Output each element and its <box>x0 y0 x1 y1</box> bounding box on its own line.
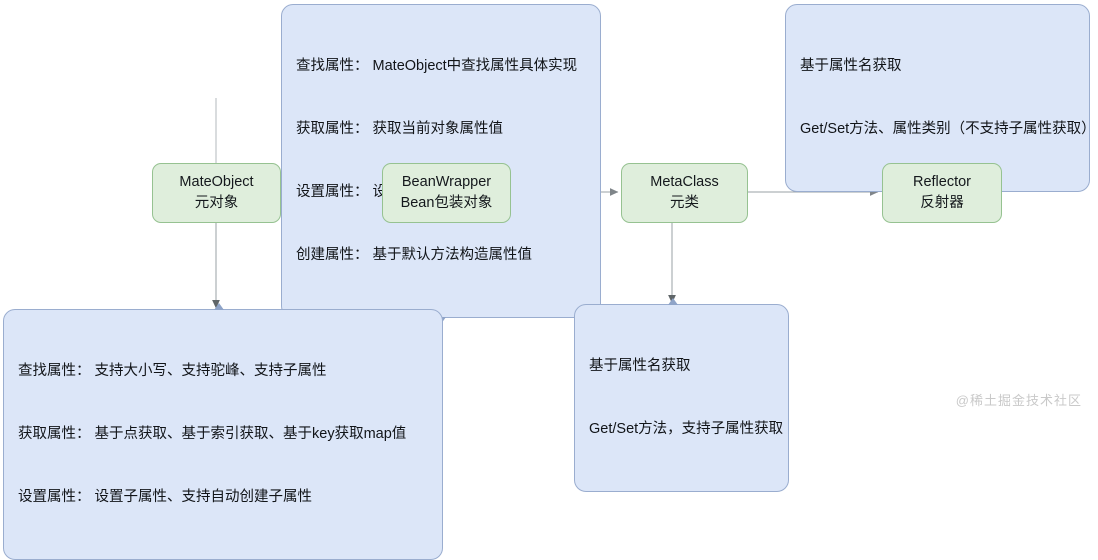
class-name-cn: Bean包装对象 <box>401 193 493 214</box>
annotation-metaclass-detail: 基于属性名获取 Get/Set方法，支持子属性获取 <box>574 304 789 492</box>
annotation-beanwrapper-detail: 查找属性： 支持大小写、支持驼峰、支持子属性 获取属性： 基于点获取、基于索引获… <box>3 309 443 560</box>
annotation-mateobject-detail: 查找属性： MateObject中查找属性具体实现 获取属性： 获取当前对象属性… <box>281 4 601 318</box>
diagram-canvas: 查找属性： MateObject中查找属性具体实现 获取属性： 获取当前对象属性… <box>0 0 1098 421</box>
class-node-metaclass[interactable]: MetaClass 元类 <box>621 163 748 223</box>
class-node-beanwrapper[interactable]: BeanWrapper Bean包装对象 <box>382 163 511 223</box>
class-name-cn: 元类 <box>670 193 699 214</box>
annotation-line: Get/Set方法、属性类别（不支持子属性获取） <box>800 119 1075 140</box>
annotation-line: Get/Set方法，支持子属性获取 <box>589 419 774 440</box>
class-name-en: MateObject <box>179 172 253 193</box>
class-node-mateobject[interactable]: MateObject 元对象 <box>152 163 281 223</box>
class-name-cn: 反射器 <box>920 193 964 214</box>
annotation-line: 查找属性： MateObject中查找属性具体实现 <box>296 56 586 77</box>
watermark: @稀土掘金技术社区 <box>956 390 1082 409</box>
class-name-en: BeanWrapper <box>402 172 491 193</box>
annotation-line: 基于属性名获取 <box>800 56 1075 77</box>
class-name-cn: 元对象 <box>195 193 239 214</box>
class-name-en: Reflector <box>913 172 971 193</box>
annotation-line: 查找属性： 支持大小写、支持驼峰、支持子属性 <box>18 361 428 382</box>
annotation-line: 设置属性： 设置子属性、支持自动创建子属性 <box>18 487 428 508</box>
annotation-line: 获取属性： 基于点获取、基于索引获取、基于key获取map值 <box>18 424 428 445</box>
annotation-line: 基于属性名获取 <box>589 356 774 377</box>
class-name-en: MetaClass <box>650 172 719 193</box>
annotation-line: 创建属性： 基于默认方法构造属性值 <box>296 245 586 266</box>
class-node-reflector[interactable]: Reflector 反射器 <box>882 163 1002 223</box>
annotation-line: 获取属性： 获取当前对象属性值 <box>296 119 586 140</box>
